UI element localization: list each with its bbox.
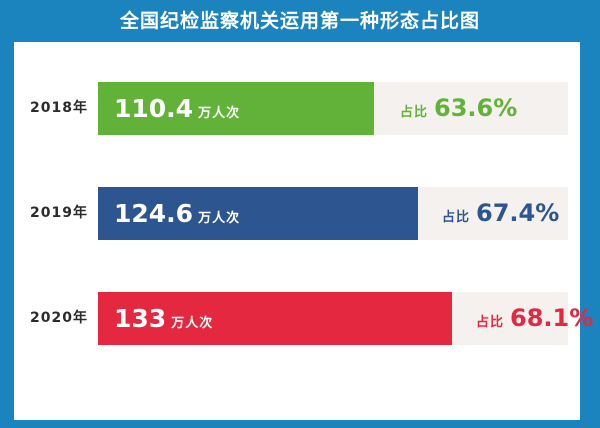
bar-year-label-2018: 2018年 [14, 82, 88, 135]
page-title: 全国纪检监察机关运用第一种形态占比图 [0, 0, 600, 42]
bar-value-number-2019: 124.6 [114, 199, 193, 228]
bar-percent-label-2019: 占比 [442, 210, 470, 225]
bar-year-label-2020: 2020年 [14, 292, 88, 345]
bar-value-number-2020: 133 [114, 304, 166, 333]
bar-value-number-2018: 110.4 [114, 94, 193, 123]
bar-value-2020: 133万人次 [114, 292, 213, 345]
bar-value-unit-2019: 万人次 [198, 211, 240, 226]
bar-track-2019: 124.6万人次 占比67.4% [98, 187, 568, 240]
bar-percent-2020: 占比68.1% [476, 292, 593, 345]
bar-track-2020: 133万人次 占比68.1% [98, 292, 568, 345]
bar-percent-value-2020: 68.1% [510, 304, 593, 332]
bar-percent-2018: 占比63.6% [400, 82, 517, 135]
chart-card: 2018年 110.4万人次 占比63.6% 2019年 124.6万人次 占比… [14, 42, 580, 420]
bar-track-2018: 110.4万人次 占比63.6% [98, 82, 568, 135]
infographic-container: 全国纪检监察机关运用第一种形态占比图 2018年 110.4万人次 占比63.6… [0, 0, 600, 428]
bar-value-2019: 124.6万人次 [114, 187, 240, 240]
bar-value-2018: 110.4万人次 [114, 82, 240, 135]
bar-percent-label-2020: 占比 [476, 315, 504, 330]
bar-percent-value-2018: 63.6% [434, 94, 517, 122]
table-row: 2020年 133万人次 占比68.1% [14, 292, 580, 345]
bar-value-unit-2018: 万人次 [198, 106, 240, 121]
bar-year-label-2019: 2019年 [14, 187, 88, 240]
bar-percent-2019: 占比67.4% [442, 187, 559, 240]
bar-value-unit-2020: 万人次 [171, 316, 213, 331]
bar-percent-label-2018: 占比 [400, 105, 428, 120]
bar-percent-value-2019: 67.4% [476, 199, 559, 227]
table-row: 2019年 124.6万人次 占比67.4% [14, 187, 580, 240]
table-row: 2018年 110.4万人次 占比63.6% [14, 82, 580, 135]
